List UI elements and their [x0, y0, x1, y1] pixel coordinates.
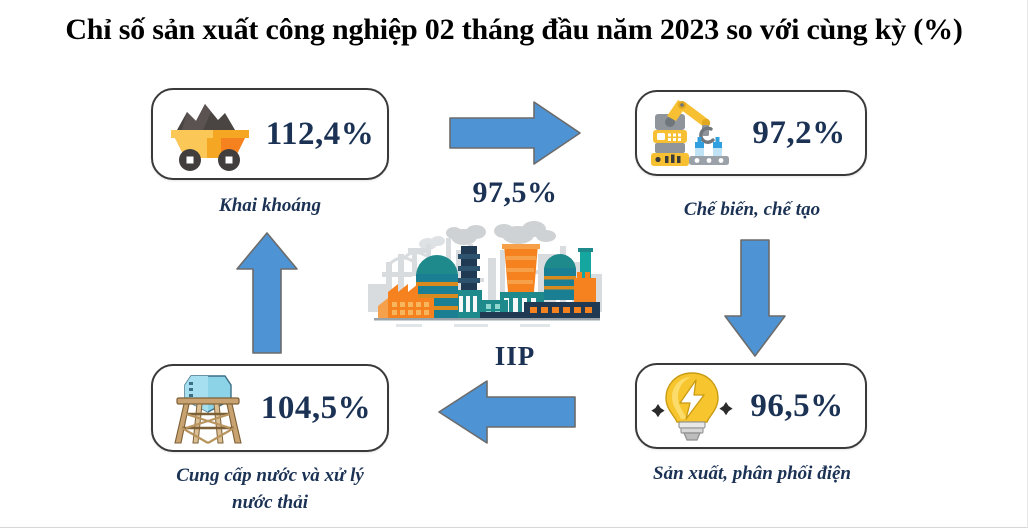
stat-card-water[interactable]: 104,5% — [151, 364, 389, 452]
coal-mine-cart-icon — [163, 96, 259, 172]
page-title: Chỉ số sản xuất công nghiệp 02 tháng đầu… — [0, 10, 1028, 50]
arrow-down-icon — [722, 238, 788, 358]
iip-label: IIP — [395, 341, 635, 372]
arrow-up-icon — [234, 231, 300, 355]
water-tower-icon — [165, 370, 251, 446]
robotic-arm-icon — [647, 96, 739, 170]
stat-caption-water-line1: Cung cấp nước và xử lý — [131, 462, 409, 489]
arrow-right-icon — [448, 100, 582, 166]
arrow-left-icon — [437, 379, 577, 445]
stat-value-manufacture: 97,2% — [739, 115, 859, 152]
stat-caption-manufacture: Chế biến, chế tạo — [627, 196, 877, 223]
stat-value-water: 104,5% — [251, 390, 381, 427]
stat-value-electricity: 96,5% — [735, 388, 859, 425]
stat-card-mining[interactable]: 112,4% — [151, 88, 389, 180]
stat-caption-water-line2: nước thải — [131, 489, 409, 516]
stat-card-electricity[interactable]: 96,5% — [635, 363, 867, 449]
stat-caption-water: Cung cấp nước và xử lý nước thải — [131, 462, 409, 516]
factory-plant-icon — [368, 214, 604, 340]
stat-card-manufacture[interactable]: 97,2% — [635, 90, 867, 176]
stat-caption-mining: Khai khoáng — [151, 192, 389, 219]
stat-value-mining: 112,4% — [259, 116, 381, 153]
lightbulb-lightning-icon — [649, 369, 735, 443]
infographic-canvas: Chỉ số sản xuất công nghiệp 02 tháng đầu… — [0, 0, 1028, 528]
iip-value: 97,5% — [395, 176, 635, 210]
stat-caption-electricity: Sản xuất, phân phối điện — [617, 460, 887, 487]
